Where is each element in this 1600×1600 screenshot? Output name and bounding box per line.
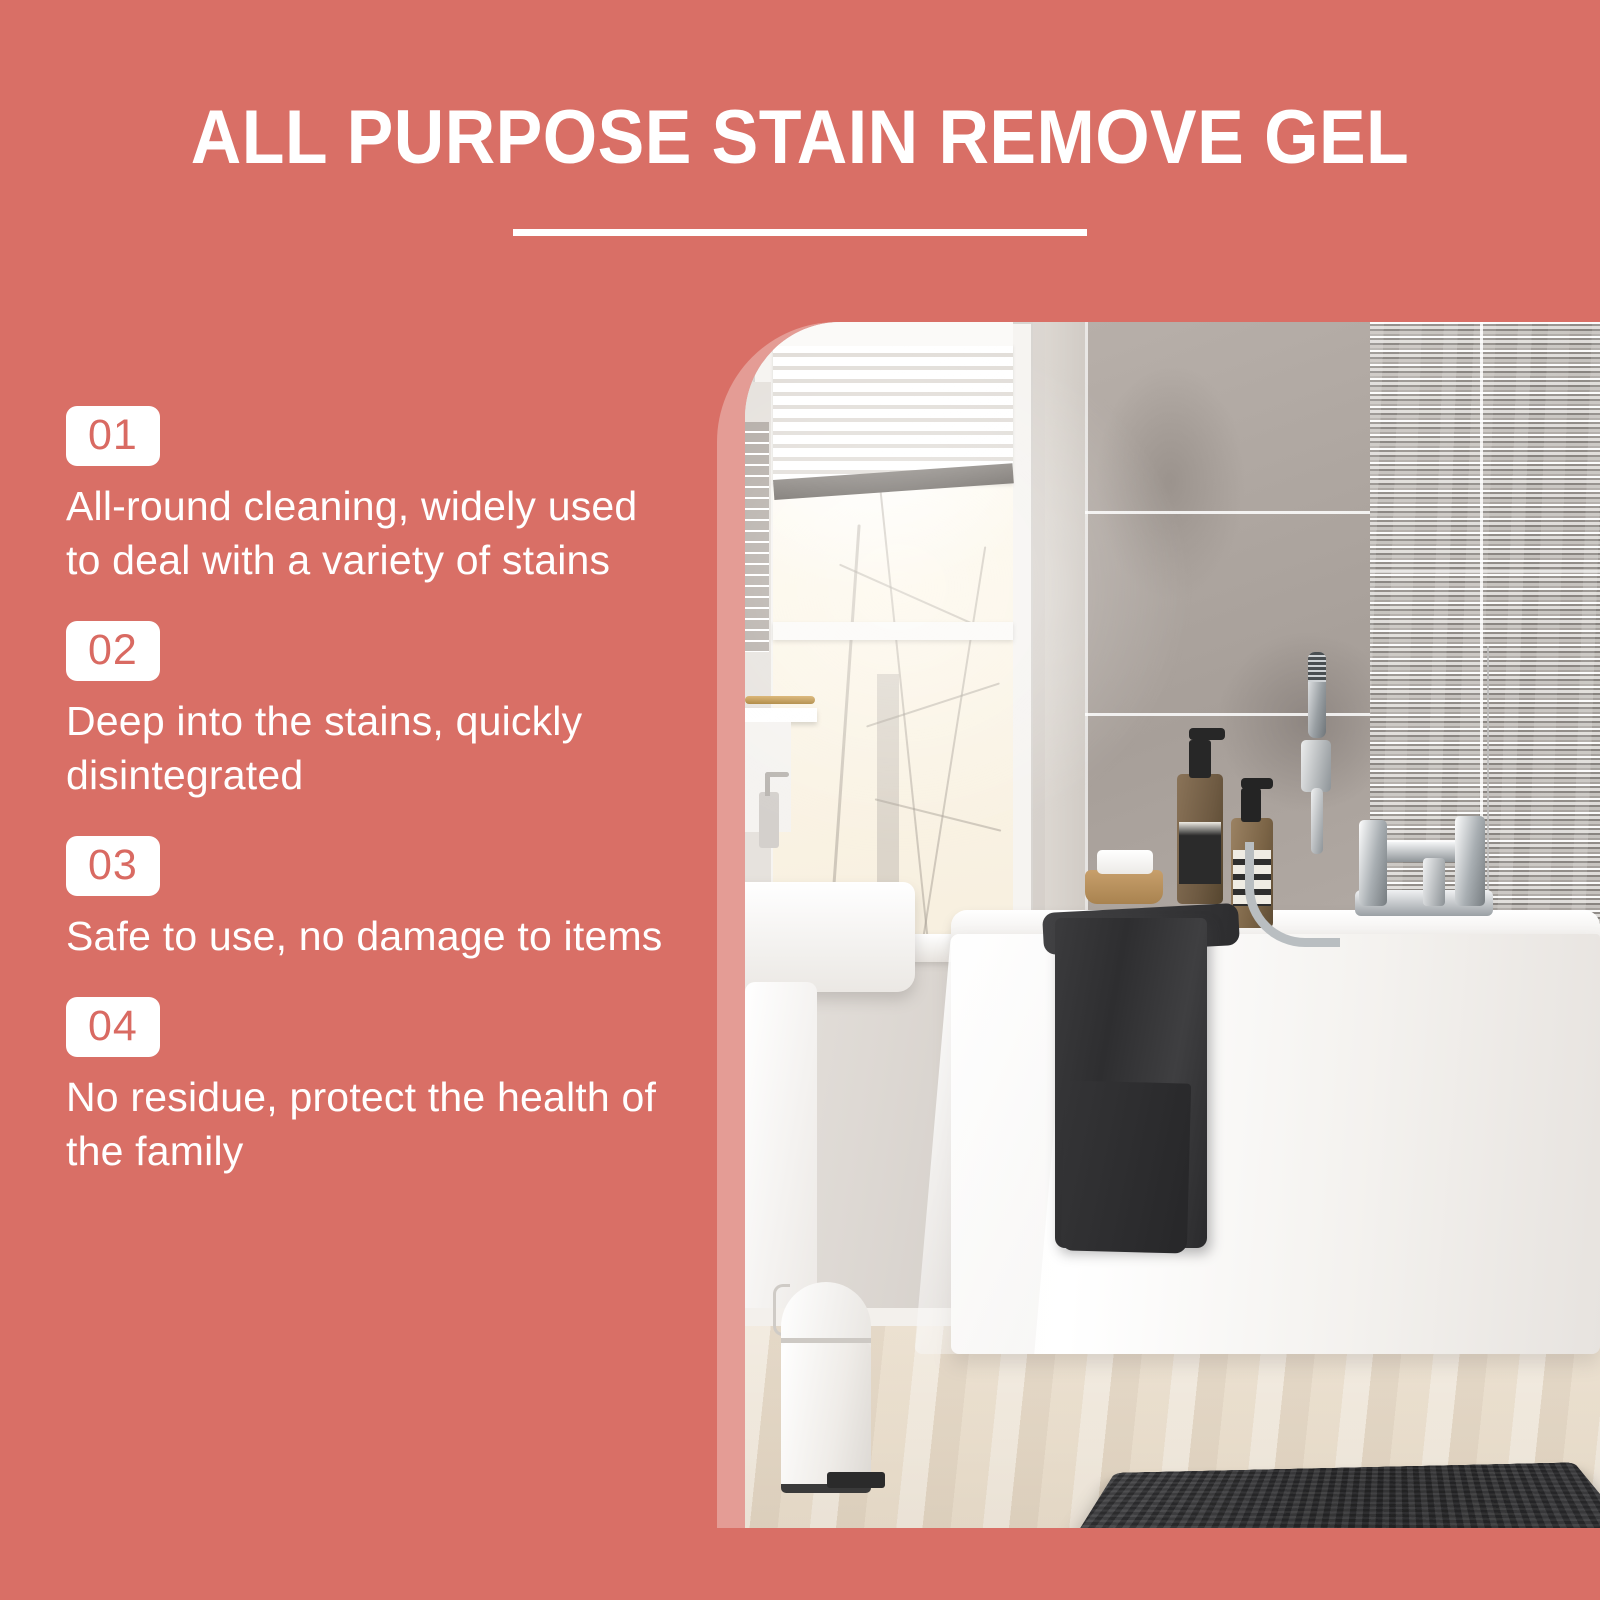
pedal-bin-body bbox=[781, 1342, 871, 1492]
stone-tile-seam bbox=[1370, 570, 1600, 573]
shower-hose-line bbox=[1487, 646, 1489, 892]
pump-nozzle-icon bbox=[1189, 728, 1225, 740]
soap-dispenser-handle bbox=[765, 772, 789, 777]
feature-number-badge: 04 bbox=[66, 997, 160, 1057]
feature-item-01: 01 All-round cleaning, widely used to de… bbox=[66, 406, 666, 587]
bath-tap-handle-right bbox=[1455, 816, 1485, 906]
pedestal-sink-bowl bbox=[745, 882, 915, 992]
feature-list: 01 All-round cleaning, widely used to de… bbox=[66, 406, 666, 1212]
shower-wall-bracket bbox=[1301, 740, 1331, 792]
tree-branch bbox=[828, 524, 860, 943]
towel-lower-fold bbox=[1061, 1080, 1191, 1253]
pump-cap-icon bbox=[1189, 740, 1211, 778]
feature-text: No residue, protect the health of the fa… bbox=[66, 1070, 666, 1178]
page-title: ALL PURPOSE STAIN REMOVE GEL bbox=[64, 96, 1536, 180]
feature-text: Safe to use, no damage to items bbox=[66, 909, 666, 963]
pump-nozzle-icon bbox=[1241, 778, 1273, 789]
feature-text: All-round cleaning, widely used to deal … bbox=[66, 479, 666, 587]
wall-shelf bbox=[745, 708, 817, 722]
window-sash-bar bbox=[773, 622, 1013, 640]
feature-number-badge: 02 bbox=[66, 621, 160, 681]
tree-branch bbox=[839, 564, 977, 627]
feature-item-04: 04 No residue, protect the health of the… bbox=[66, 997, 666, 1178]
toiletry-bottle-label bbox=[1179, 822, 1221, 884]
bath-tap-outlet bbox=[1423, 858, 1445, 906]
feature-number-badge: 03 bbox=[66, 836, 160, 896]
feature-number-badge: 01 bbox=[66, 406, 160, 466]
soap-dispenser bbox=[759, 792, 779, 848]
wooden-soap-dish bbox=[1085, 870, 1163, 904]
pedal-bin-pedal bbox=[827, 1472, 885, 1488]
soap-bar bbox=[1097, 850, 1153, 874]
infographic-canvas: ALL PURPOSE STAIN REMOVE GEL 01 All-roun… bbox=[0, 0, 1600, 1600]
feature-item-03: 03 Safe to use, no damage to items bbox=[66, 836, 666, 963]
shower-head-grid bbox=[1308, 652, 1326, 682]
pump-cap-icon bbox=[1241, 788, 1261, 822]
brass-rail bbox=[745, 696, 815, 704]
feature-item-02: 02 Deep into the stains, quickly disinte… bbox=[66, 621, 666, 802]
side-tile-strip bbox=[745, 422, 769, 652]
window-blinds bbox=[773, 344, 1013, 484]
pedal-bin-band bbox=[781, 1338, 871, 1343]
title-divider bbox=[513, 229, 1087, 236]
bath-tap-handle-left bbox=[1359, 820, 1387, 906]
shower-handle bbox=[1311, 788, 1323, 854]
bathroom-photo bbox=[745, 322, 1600, 1528]
blinds-headrail bbox=[773, 322, 1013, 346]
feature-text: Deep into the stains, quickly disintegra… bbox=[66, 694, 666, 802]
soap-dispenser-neck bbox=[765, 774, 770, 796]
